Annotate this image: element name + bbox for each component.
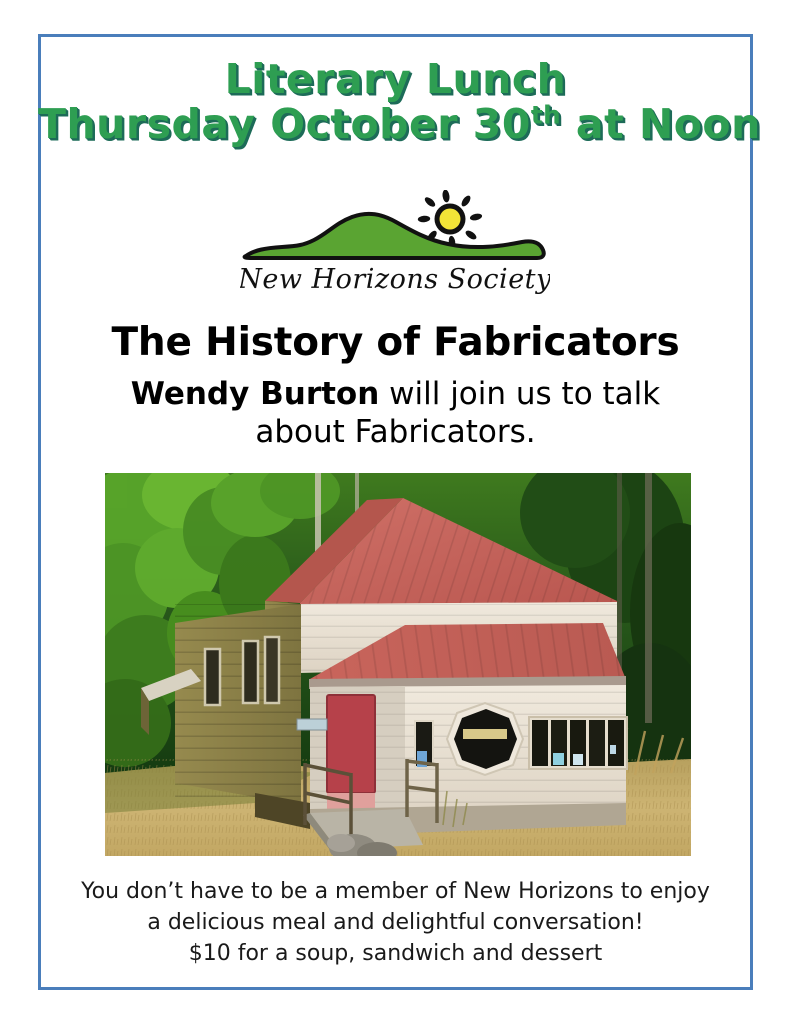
title-line-1: Literary Lunch: [38, 58, 753, 101]
talk-title: The History of Fabricators: [38, 322, 753, 365]
window-item-b: [573, 754, 583, 765]
octagon-window-sign: [463, 729, 507, 739]
venue-photo: [105, 473, 691, 856]
talk-subtitle: Wendy Burton will join us to talk about …: [38, 376, 753, 452]
wall-sign: [297, 719, 327, 730]
footer-line-1: You don’t have to be a member of New Hor…: [38, 876, 753, 907]
hill-shape: [245, 214, 544, 258]
title-ordinal-suffix: th: [531, 101, 561, 130]
window-item-a: [553, 753, 564, 765]
talk-info: The History of Fabricators Wendy Burton …: [38, 322, 753, 452]
poster-title: Literary Lunch Thursday October 30th at …: [38, 58, 753, 147]
title-line-2: Thursday October 30th at Noon: [38, 103, 753, 146]
poster-footer: You don’t have to be a member of New Hor…: [38, 876, 753, 970]
window-item-c: [610, 745, 616, 754]
title-time-text: at Noon: [561, 100, 761, 148]
logo-wordmark: New Horizons Society: [240, 264, 550, 295]
footer-line-2: a delicious meal and delightful conversa…: [38, 907, 753, 938]
side-window-2: [243, 641, 258, 703]
side-window-3: [265, 637, 279, 703]
footer-line-3: $10 for a soup, sandwich and dessert: [38, 938, 753, 969]
title-date-text: Thursday October 30: [38, 100, 531, 148]
octagon-window: [447, 703, 523, 775]
poster-page: Literary Lunch Thursday October 30th at …: [0, 0, 791, 1024]
window-band: [529, 717, 627, 769]
speaker-name: Wendy Burton: [131, 376, 380, 412]
new-horizons-logo: New Horizons Society: [240, 190, 550, 295]
side-window-1: [205, 649, 220, 705]
